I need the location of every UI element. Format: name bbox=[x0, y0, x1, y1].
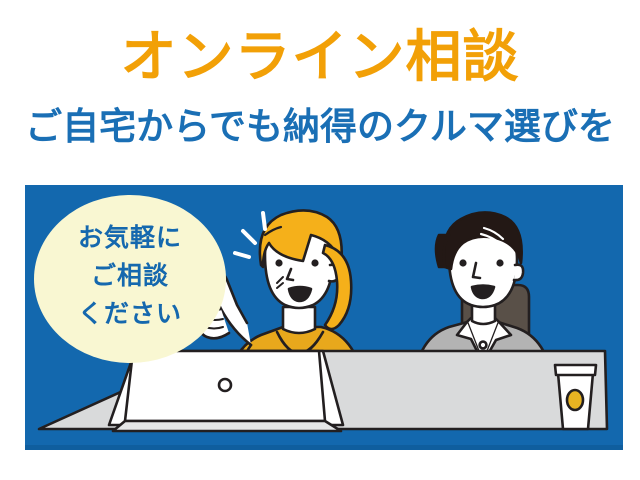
online-consultation-banner: オンライン相談 ご自宅からでも納得のクルマ選びを bbox=[0, 0, 640, 480]
badge-line-1: お気軽に bbox=[34, 219, 226, 257]
status-badge: お気軽に ご相談 ください bbox=[34, 195, 226, 363]
badge-line-2: ご相談 bbox=[34, 257, 226, 295]
illustration-panel: お気軽に ご相談 ください bbox=[25, 185, 623, 450]
badge-text: お気軽に ご相談 ください bbox=[34, 219, 226, 333]
headline-block: オンライン相談 ご自宅からでも納得のクルマ選びを bbox=[0, 0, 640, 175]
panel-bottom-strip bbox=[25, 445, 623, 450]
page-subtitle: ご自宅からでも納得のクルマ選びを bbox=[0, 104, 640, 150]
page-title: オンライン相談 bbox=[0, 26, 640, 88]
badge-line-3: ください bbox=[34, 295, 226, 333]
